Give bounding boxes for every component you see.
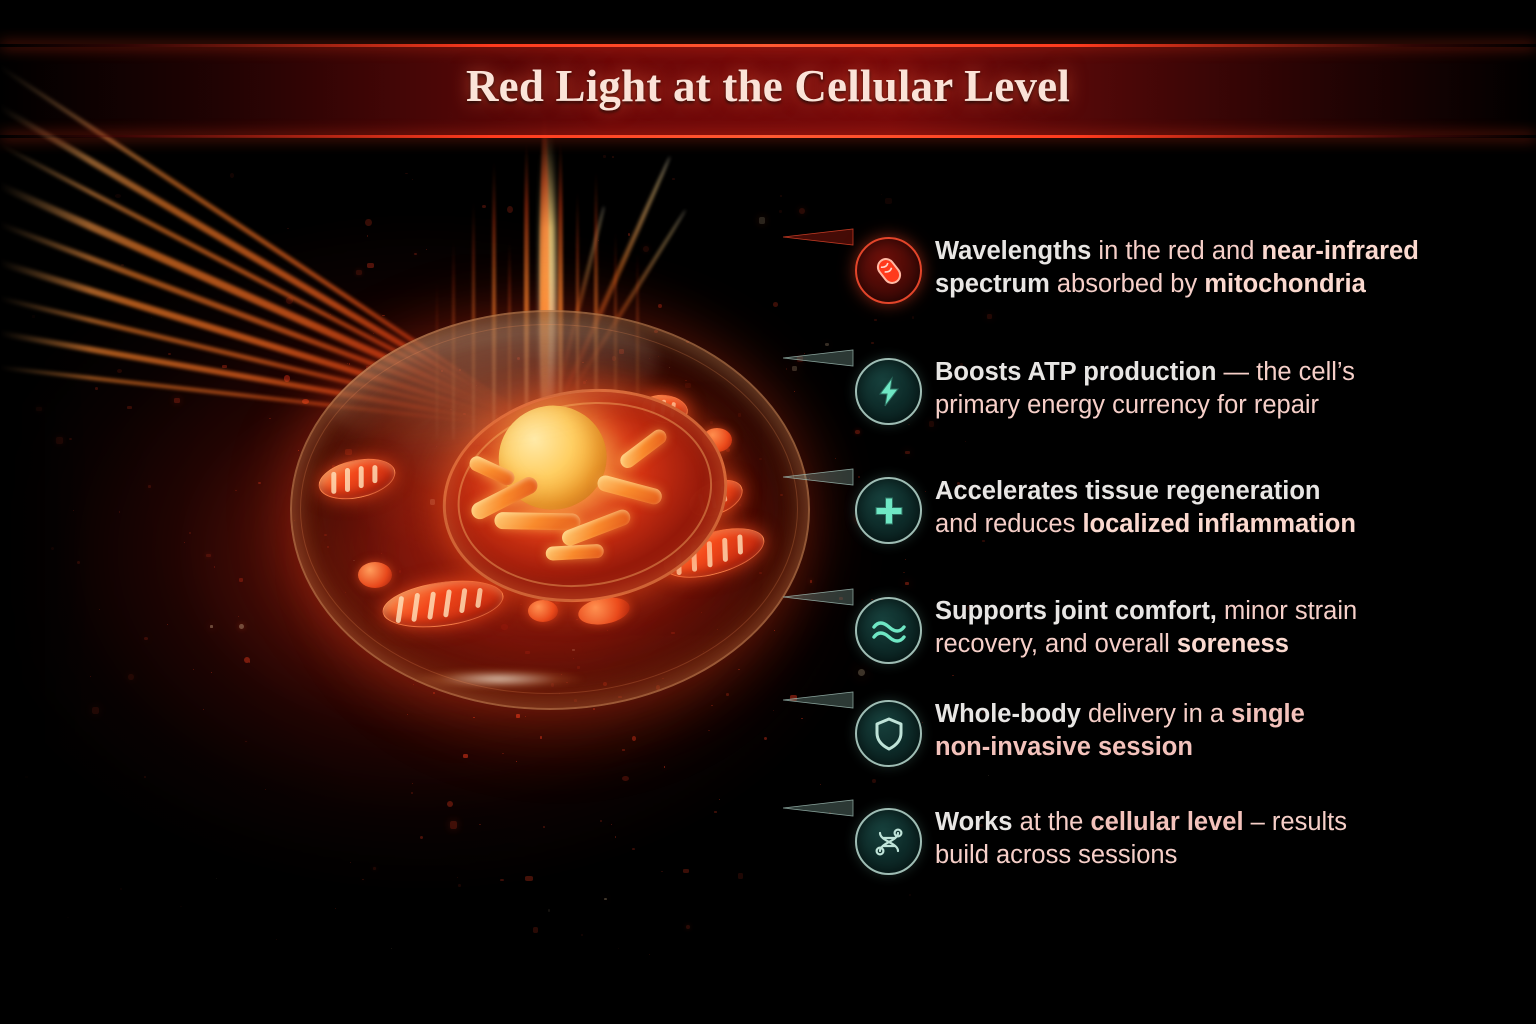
infographic-canvas: Red Light at the Cellular Level Waveleng… <box>0 0 1536 1024</box>
benefit-text-line: non-invasive session <box>935 731 1515 764</box>
text-segment: delivery in a <box>1088 700 1231 728</box>
benefit-text-line: recovery, and overall soreness <box>935 628 1515 661</box>
text-segment: at the <box>1020 808 1091 836</box>
connector-line <box>783 797 861 819</box>
dna-helix-icon[interactable] <box>855 808 922 875</box>
benefit-text-line: Wavelengths in the red and near-infrared <box>935 235 1515 268</box>
text-segment: — the cell’s <box>1224 358 1355 386</box>
benefit-text-line: Boosts ATP production — the cell’s <box>935 356 1515 389</box>
benefit-text-line: spectrum absorbed by mitochondria <box>935 268 1515 301</box>
text-segment: primary energy currency for repair <box>935 391 1319 419</box>
text-segment: mitochondria <box>1204 270 1366 298</box>
benefit-text: Accelerates tissue regenerationand reduc… <box>935 475 1515 541</box>
lightning-bolt-icon[interactable] <box>855 358 922 425</box>
connector-line <box>783 586 861 608</box>
benefit-text-line: Whole-body delivery in a single <box>935 698 1515 731</box>
benefit-text: Works at the cellular level – resultsbui… <box>935 806 1515 872</box>
text-segment: near-infrared <box>1261 237 1418 265</box>
text-segment: Supports joint comfort, <box>935 597 1224 625</box>
text-segment: Boosts ATP production <box>935 358 1224 386</box>
text-segment: absorbed by <box>1057 270 1204 298</box>
text-segment: non-invasive session <box>935 733 1193 761</box>
benefit-text-line: build across sessions <box>935 839 1515 872</box>
benefit-text-line: Supports joint comfort, minor strain <box>935 595 1515 628</box>
text-segment: and reduces <box>935 510 1082 538</box>
text-segment: Wavelengths <box>935 237 1098 265</box>
wave-icon[interactable] <box>855 597 922 664</box>
connector-line <box>783 689 861 711</box>
shield-icon[interactable] <box>855 700 922 767</box>
benefit-text: Boosts ATP production — the cell’sprimar… <box>935 356 1515 422</box>
benefit-list: Wavelengths in the red and near-infrared… <box>0 0 1536 1024</box>
text-segment: cellular level <box>1090 808 1250 836</box>
text-segment: Accelerates tissue regeneration <box>935 477 1321 505</box>
medical-cross-icon[interactable] <box>855 477 922 544</box>
text-segment: – results <box>1251 808 1347 836</box>
text-segment: spectrum <box>935 270 1057 298</box>
benefit-text-line: and reduces localized inflammation <box>935 508 1515 541</box>
text-segment: Works <box>935 808 1020 836</box>
mitochondria-icon[interactable] <box>855 237 922 304</box>
text-segment: soreness <box>1177 630 1289 658</box>
text-segment: recovery, and overall <box>935 630 1177 658</box>
text-segment: single <box>1231 700 1305 728</box>
connector-line <box>783 347 861 369</box>
connector-line <box>783 226 861 248</box>
connector-line <box>783 466 861 488</box>
benefit-text: Whole-body delivery in a singlenon-invas… <box>935 698 1515 764</box>
benefit-text: Wavelengths in the red and near-infrared… <box>935 235 1515 301</box>
text-segment: in the red and <box>1098 237 1261 265</box>
benefit-text-line: primary energy currency for repair <box>935 389 1515 422</box>
benefit-text-line: Accelerates tissue regeneration <box>935 475 1515 508</box>
text-segment: build across sessions <box>935 841 1177 869</box>
benefit-text: Supports joint comfort, minor strainreco… <box>935 595 1515 661</box>
text-segment: localized inflammation <box>1082 510 1355 538</box>
benefit-text-line: Works at the cellular level – results <box>935 806 1515 839</box>
text-segment: Whole-body <box>935 700 1088 728</box>
text-segment: minor strain <box>1224 597 1357 625</box>
